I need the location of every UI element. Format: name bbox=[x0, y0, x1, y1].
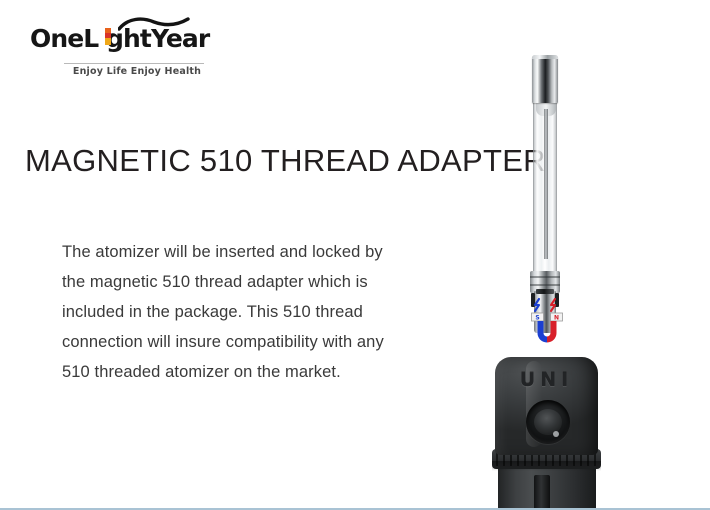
chrome-mouthpiece bbox=[532, 55, 558, 103]
adapter-contact-pin bbox=[553, 431, 559, 437]
base-connector-rim bbox=[536, 289, 554, 294]
logo-word-pre: OneL bbox=[30, 24, 98, 53]
510-thread-atomizer-cartridge bbox=[520, 55, 570, 295]
horseshoe-magnet-icon: S N bbox=[528, 297, 566, 347]
brand-logo: OneLightYear Enjoy Life Enjoy Health bbox=[30, 18, 205, 66]
magnetic-adapter-port bbox=[526, 400, 570, 444]
logo-divider bbox=[64, 63, 204, 64]
product-illustration: S N UNI bbox=[430, 0, 710, 510]
logo-i-color-bar-icon bbox=[105, 28, 111, 45]
logo-tagline: Enjoy Life Enjoy Health bbox=[64, 66, 210, 77]
body-paragraph: The atomizer will be inserted and locked… bbox=[62, 237, 407, 387]
uni-vape-battery: UNI bbox=[470, 357, 620, 510]
clear-glass-tube bbox=[533, 101, 557, 276]
adapter-port-inner bbox=[534, 409, 562, 435]
svg-text:N: N bbox=[554, 315, 559, 322]
battery-brand-label: UNI bbox=[495, 371, 598, 390]
center-post bbox=[544, 109, 548, 259]
battery-window-slot bbox=[534, 475, 550, 510]
mouthpiece-top-rim bbox=[532, 55, 558, 59]
logo-wordmark: OneLightYear bbox=[30, 26, 209, 51]
svg-text:S: S bbox=[535, 315, 539, 322]
product-marketing-slide: OneLightYear Enjoy Life Enjoy Health MAG… bbox=[0, 0, 710, 510]
logo-word-post: ghtYear bbox=[106, 24, 209, 53]
